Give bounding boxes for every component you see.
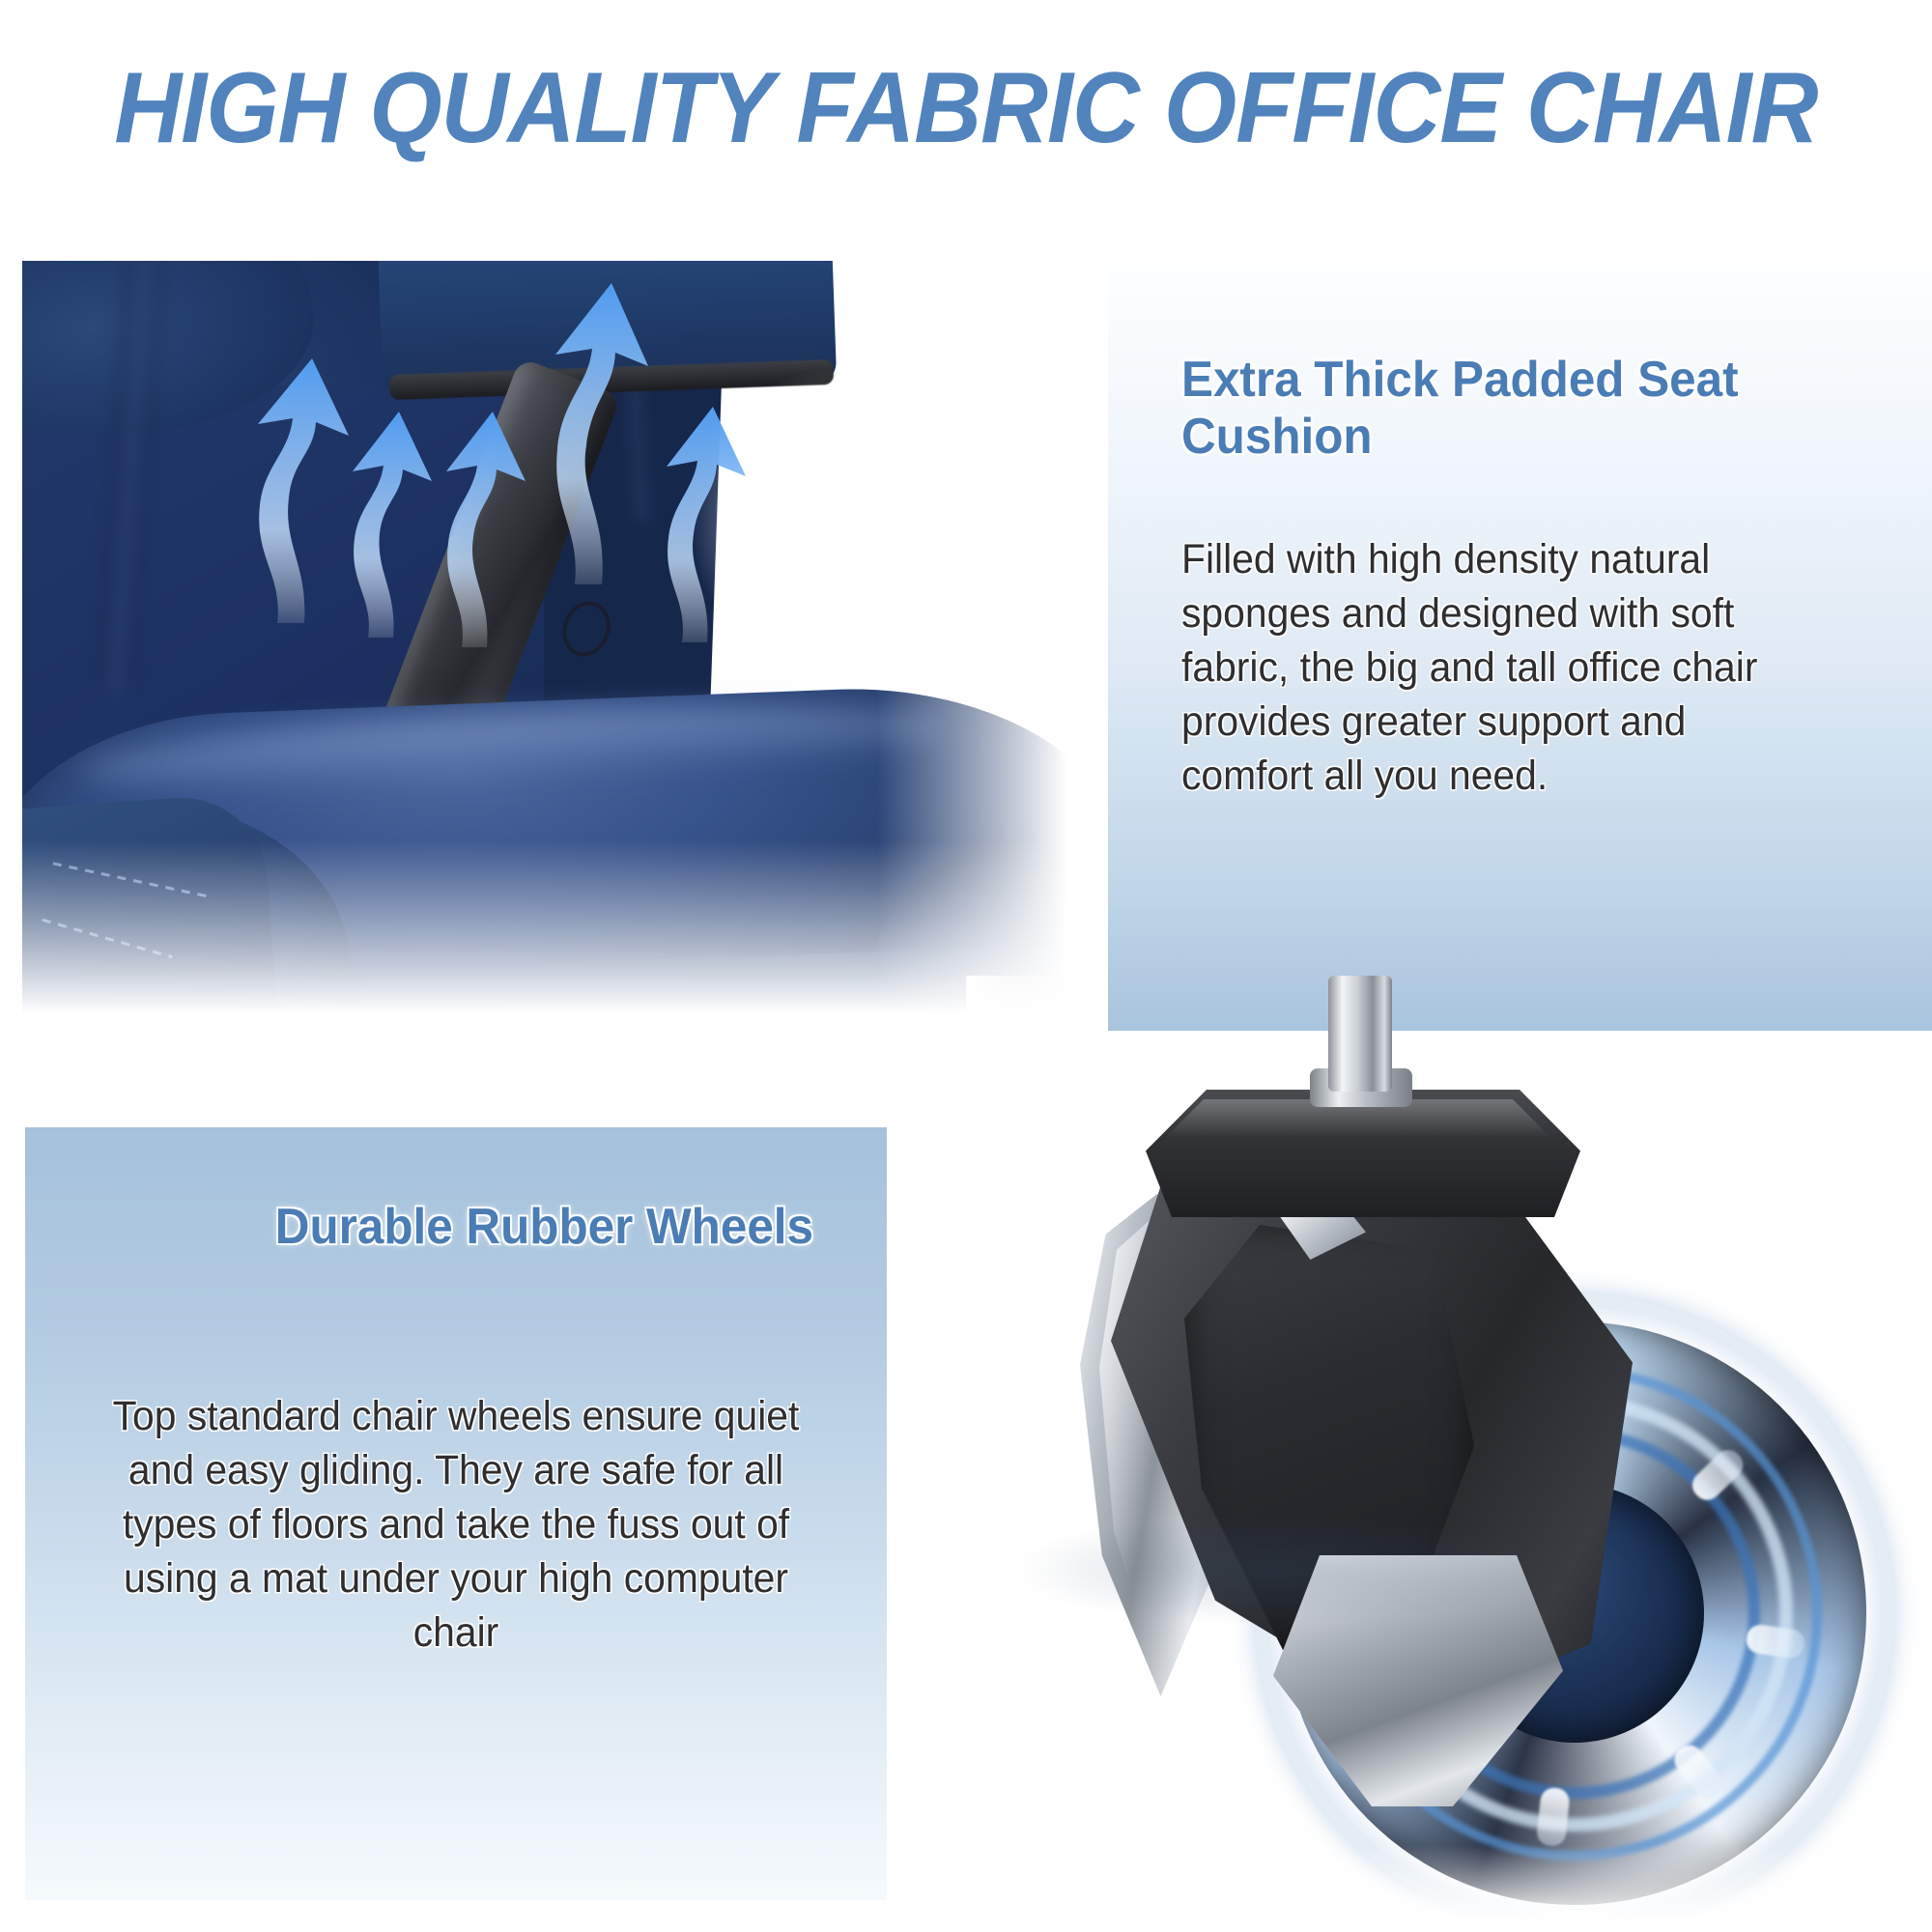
- wheels-body-text: Top standard chair wheels ensure quiet a…: [83, 1390, 828, 1660]
- wheels-info-panel: Durable Rubber Wheels Top standard chair…: [25, 1127, 887, 1900]
- caster-wheel-photo: [966, 976, 1932, 1932]
- airflow-arrow-3-icon: [433, 406, 549, 647]
- page-title: HIGH QUALITY FABRIC OFFICE CHAIR: [114, 51, 1817, 166]
- airflow-arrow-5-icon: [655, 401, 771, 642]
- airflow-arrow-4-icon: [544, 275, 669, 584]
- cushion-heading: Extra Thick Padded Seat Cushion: [1181, 352, 1824, 467]
- photo-bottom-fade: [22, 840, 1109, 1063]
- wheels-heading: Durable Rubber Wheels: [134, 1199, 813, 1256]
- caster-bottom-fade: [966, 1845, 1932, 1932]
- caster-stem: [1328, 976, 1392, 1092]
- cushion-info-panel: Extra Thick Padded Seat Cushion Filled w…: [1108, 263, 1932, 1031]
- caster-left-fade: [966, 976, 1082, 1932]
- cushion-body-text: Filled with high density natural sponges…: [1181, 533, 1824, 803]
- chair-seat-photo: [22, 261, 1109, 1063]
- caster-ground-shadow: [1005, 1517, 1546, 1623]
- title-bar: HIGH QUALITY FABRIC OFFICE CHAIR: [0, 50, 1932, 166]
